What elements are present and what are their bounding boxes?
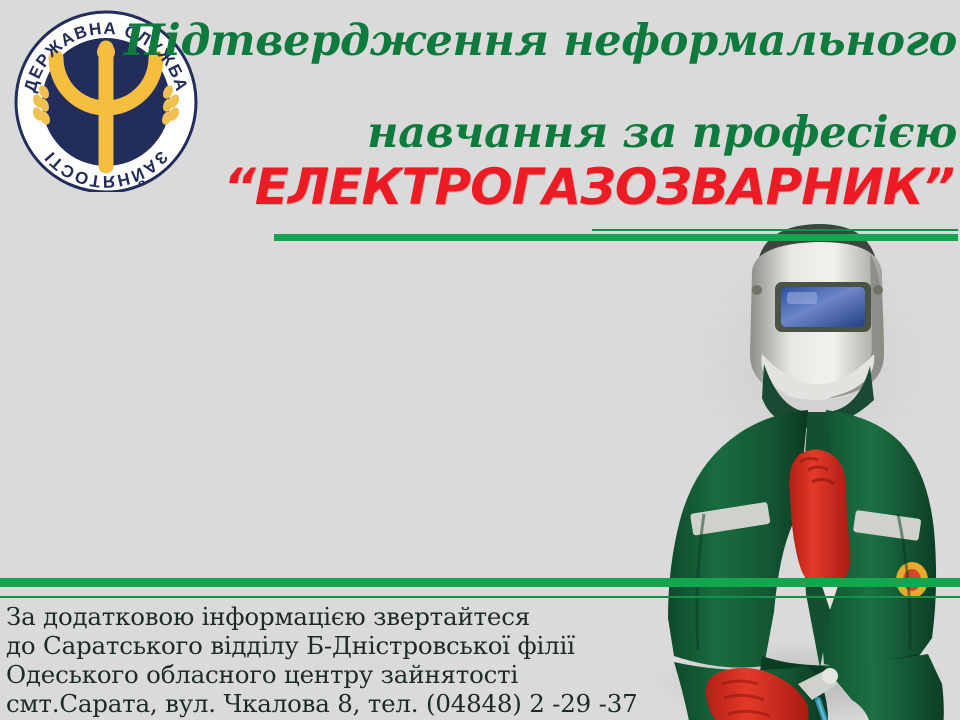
divider-bottom-thin	[0, 596, 960, 598]
heading-line-1: Підтвердження неформального	[124, 16, 957, 66]
contact-line-3: Одеського обласного центру зайнятості	[6, 660, 646, 689]
divider-bottom-thick	[0, 578, 960, 587]
heading-line-2: навчання за професією	[367, 108, 957, 158]
contact-line-1: За додатковою інформацією звертайтеся	[6, 602, 646, 631]
contact-line-4: смт.Сарата, вул. Чкалова 8, тел. (04848)…	[6, 689, 646, 718]
contact-line-2: до Саратського відділу Б-Дністровської ф…	[6, 631, 646, 660]
welding-helmet	[750, 224, 884, 400]
contact-info-block: За додатковою інформацією звертайтеся до…	[6, 602, 646, 718]
profession-title: “ЕЛЕКТРОГАЗОЗВАРНИК”	[224, 158, 955, 216]
slide-canvas: ДЕРЖАВНА СЛУЖБА ЗАЙНЯТОСТІ	[0, 0, 960, 720]
divider-top-thin	[592, 229, 958, 231]
divider-top-thick	[274, 234, 958, 241]
welder-photo	[612, 214, 960, 720]
